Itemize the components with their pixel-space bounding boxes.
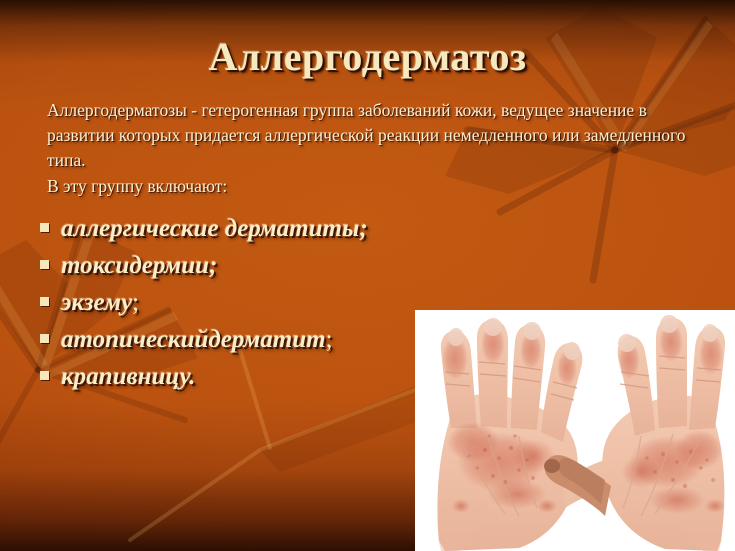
- list-item: экзему;: [40, 286, 460, 319]
- list-item-label: аллергические дерматиты;: [61, 215, 368, 242]
- square-bullet-icon: [40, 297, 49, 306]
- presentation-slide: Аллергодерматоз Аллергодерматозы - гетер…: [0, 0, 735, 551]
- list-item-label: экзему: [61, 289, 132, 316]
- allergodermatosis-list: аллергические дерматиты; токсидермии; эк…: [40, 212, 460, 397]
- list-item: атопическийдерматит;: [40, 323, 460, 356]
- slide-body-text: Аллергодерматозы - гетерогенная группа з…: [47, 98, 693, 199]
- hands-dermatitis-photo: [415, 310, 735, 551]
- list-item-label: токсидермии;: [61, 252, 217, 279]
- square-bullet-icon: [40, 260, 49, 269]
- square-bullet-icon: [40, 223, 49, 232]
- list-item-label: крапивницу.: [61, 363, 195, 390]
- list-item-tail: ;: [132, 289, 139, 316]
- body-paragraph: Аллергодерматозы - гетерогенная группа з…: [47, 98, 693, 173]
- slide-title: Аллергодерматоз: [0, 33, 735, 80]
- list-item-label: атопическийдерматит: [61, 326, 326, 353]
- hands-dermatitis-illustration: [415, 310, 735, 551]
- list-item-tail: ;: [326, 326, 333, 353]
- square-bullet-icon: [40, 334, 49, 343]
- body-lead-in: В эту группу включают:: [47, 174, 693, 199]
- list-item: аллергические дерматиты;: [40, 212, 460, 245]
- list-item: токсидермии;: [40, 249, 460, 282]
- square-bullet-icon: [40, 371, 49, 380]
- list-item: крапивницу.: [40, 360, 460, 393]
